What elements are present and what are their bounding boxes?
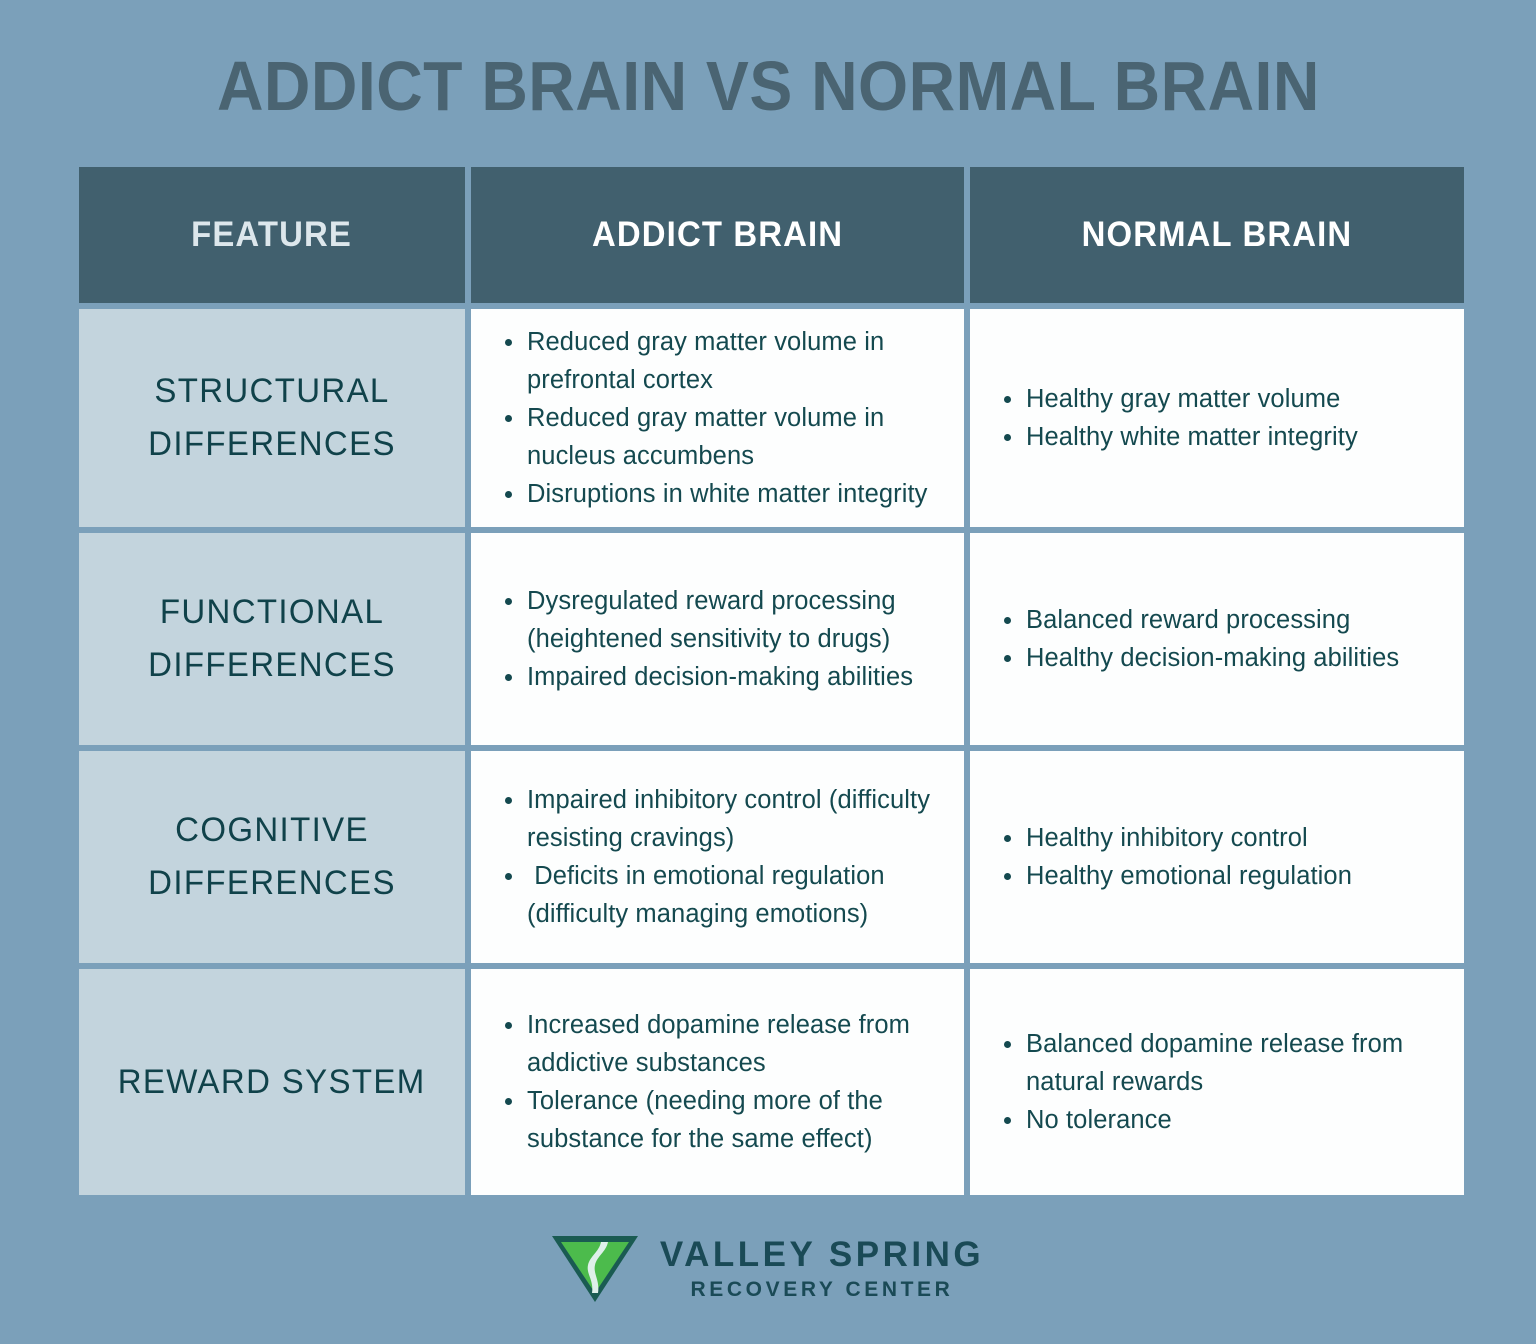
list-item: Healthy emotional regulation [996,857,1450,895]
list-item: Balanced reward processing [996,601,1450,639]
header-cell-addict-brain: ADDICT BRAIN [471,167,964,303]
table-row: COGNITIVE DIFFERENCES Impaired inhibitor… [79,751,1458,963]
page-title: ADDICT BRAIN VS NORMAL BRAIN [217,46,1320,126]
list-item: Reduced gray matter volume in nucleus ac… [497,399,950,475]
valley-triangle-river-logo-icon [552,1236,638,1302]
addict-brain-cell: Reduced gray matter volume in prefrontal… [471,309,964,527]
feature-label: STRUCTURAL DIFFERENCES [102,365,442,471]
comparison-table: FEATURE ADDICT BRAIN NORMAL BRAIN STRUCT… [79,167,1458,1195]
bullet-list: Balanced dopamine release from natural r… [996,1025,1450,1139]
list-item: Healthy white matter integrity [996,418,1450,456]
table-row: REWARD SYSTEM Increased dopamine release… [79,969,1458,1195]
list-item: Disruptions in white matter integrity [497,475,950,513]
feature-cell: FUNCTIONAL DIFFERENCES [79,533,465,745]
header-label-feature: FEATURE [192,215,353,255]
list-item: Deficits in emotional regulation (diffic… [497,857,950,933]
list-item: Increased dopamine release from addictiv… [497,1006,950,1082]
bullet-list: Impaired inhibitory control (difficulty … [497,781,950,933]
normal-brain-cell: Healthy inhibitory control Healthy emoti… [970,751,1464,963]
bullet-list: Balanced reward processing Healthy decis… [996,601,1450,677]
table-row: STRUCTURAL DIFFERENCES Reduced gray matt… [79,309,1458,527]
addict-brain-cell: Increased dopamine release from addictiv… [471,969,964,1195]
bullet-list: Healthy gray matter volume Healthy white… [996,380,1450,456]
list-item: Tolerance (needing more of the substance… [497,1082,950,1158]
list-item: Healthy inhibitory control [996,819,1450,857]
header-cell-normal-brain: NORMAL BRAIN [970,167,1464,303]
list-item: Healthy decision-making abilities [996,639,1450,677]
feature-label: REWARD SYSTEM [118,1056,426,1109]
normal-brain-cell: Healthy gray matter volume Healthy white… [970,309,1464,527]
list-item: Dysregulated reward processing (heighten… [497,582,950,658]
list-item: Balanced dopamine release from natural r… [996,1025,1450,1101]
list-item: Impaired decision-making abilities [497,658,950,696]
feature-label: FUNCTIONAL DIFFERENCES [102,586,442,692]
feature-cell: REWARD SYSTEM [79,969,465,1195]
bullet-list: Dysregulated reward processing (heighten… [497,582,950,696]
normal-brain-cell: Balanced dopamine release from natural r… [970,969,1464,1195]
logo-subtitle: RECOVERY CENTER [691,1279,954,1301]
bullet-list: Reduced gray matter volume in prefrontal… [497,323,950,513]
list-item: Impaired inhibitory control (difficulty … [497,781,950,857]
normal-brain-cell: Balanced reward processing Healthy decis… [970,533,1464,745]
header-cell-feature: FEATURE [79,167,465,303]
list-item: Reduced gray matter volume in prefrontal… [497,323,950,399]
footer-logo: VALLEY SPRING RECOVERY CENTER [0,1236,1536,1302]
header-label-normal-brain: NORMAL BRAIN [1082,215,1353,255]
infographic-canvas: ADDICT BRAIN VS NORMAL BRAIN FEATURE ADD… [0,0,1536,1344]
page-title-wrap: ADDICT BRAIN VS NORMAL BRAIN [0,46,1536,126]
feature-label: COGNITIVE DIFFERENCES [102,804,442,910]
bullet-list: Healthy inhibitory control Healthy emoti… [996,819,1450,895]
list-item: Healthy gray matter volume [996,380,1450,418]
bullet-list: Increased dopamine release from addictiv… [497,1006,950,1158]
logo-name: VALLEY SPRING [660,1237,984,1273]
logo-wordmark: VALLEY SPRING RECOVERY CENTER [660,1237,984,1301]
feature-cell: STRUCTURAL DIFFERENCES [79,309,465,527]
addict-brain-cell: Impaired inhibitory control (difficulty … [471,751,964,963]
list-item: No tolerance [996,1101,1450,1139]
header-label-addict-brain: ADDICT BRAIN [592,215,843,255]
table-row: FUNCTIONAL DIFFERENCES Dysregulated rewa… [79,533,1458,745]
addict-brain-cell: Dysregulated reward processing (heighten… [471,533,964,745]
table-header-row: FEATURE ADDICT BRAIN NORMAL BRAIN [79,167,1458,303]
feature-cell: COGNITIVE DIFFERENCES [79,751,465,963]
